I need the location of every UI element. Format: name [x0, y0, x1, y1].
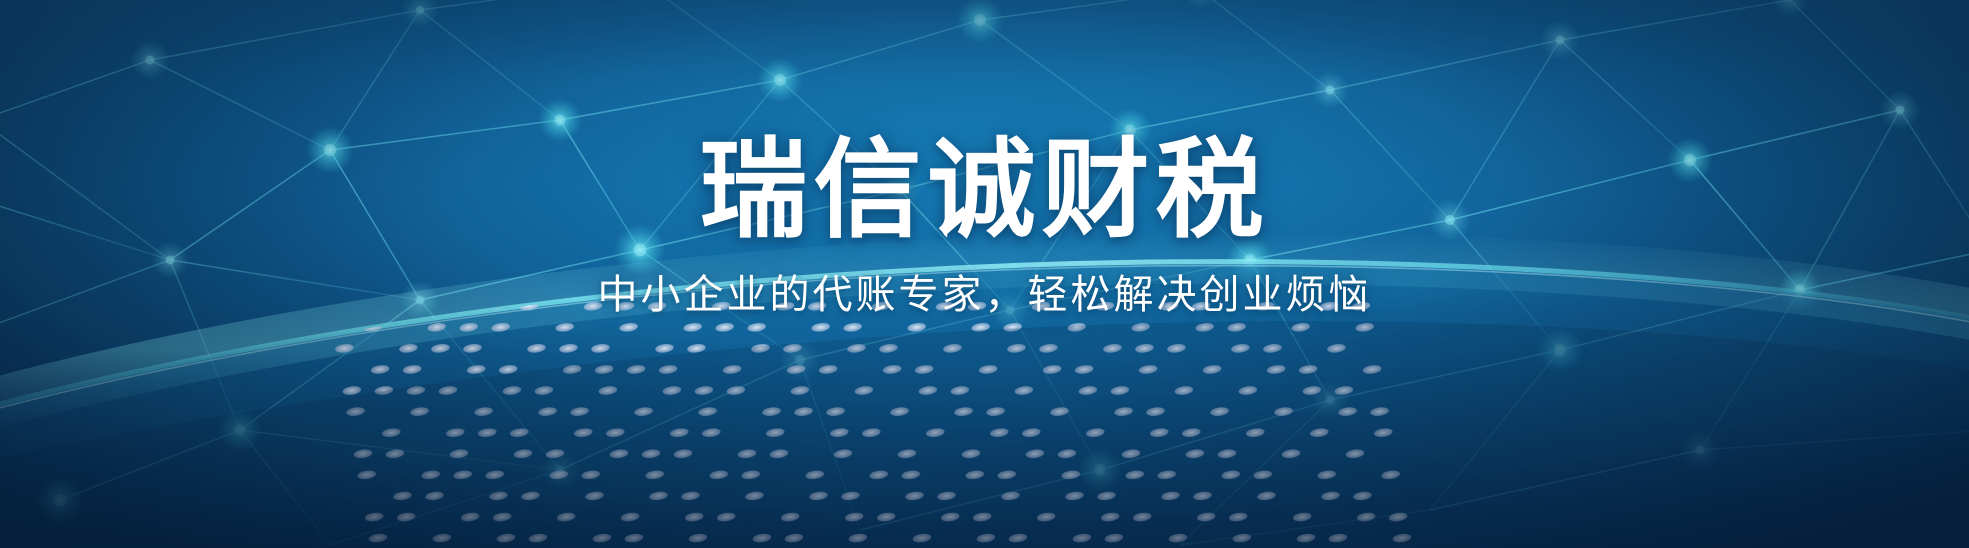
background-top-sheen: [0, 0, 1969, 548]
hero-banner: 瑞信诚财税 中小企业的代账专家，轻松解决创业烦恼: [0, 0, 1969, 548]
